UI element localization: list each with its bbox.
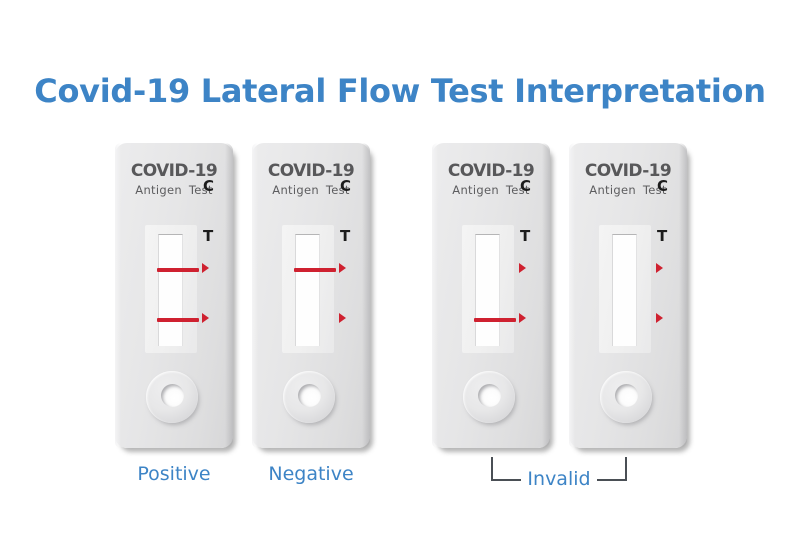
test-line-band [157, 318, 199, 322]
result-window [145, 225, 197, 353]
result-label-invalid: Invalid [491, 468, 627, 490]
page-title: Covid-19 Lateral Flow Test Interpretatio… [0, 72, 800, 110]
sample-well-hole [298, 384, 321, 407]
result-window [462, 225, 514, 353]
test-line-band [474, 318, 516, 322]
control-label: C [657, 179, 668, 194]
control-label: C [520, 179, 531, 194]
control-label: C [203, 179, 214, 194]
test-cassette-invalid-2[interactable]: COVID-19 Antigen Test C T [569, 143, 687, 448]
test-marker-arrow-icon [519, 313, 526, 323]
cassette-subtitle-text: Antigen Test [252, 183, 370, 197]
test-strip [612, 234, 637, 346]
sample-well-hole [161, 384, 184, 407]
cassette-brand-text: COVID-19 [252, 161, 370, 181]
sample-well[interactable] [463, 371, 515, 423]
illustration-canvas: Covid-19 Lateral Flow Test Interpretatio… [0, 0, 800, 550]
test-label: T [203, 229, 213, 244]
test-label: T [657, 229, 667, 244]
result-label-positive: Positive [115, 463, 233, 485]
control-label: C [340, 179, 351, 194]
test-marker-arrow-icon [202, 313, 209, 323]
sample-well[interactable] [283, 371, 335, 423]
test-strip [295, 234, 320, 346]
test-strip [475, 234, 500, 346]
control-marker-arrow-icon [519, 263, 526, 273]
result-window [282, 225, 334, 353]
sample-well[interactable] [600, 371, 652, 423]
cassette-brand-text: COVID-19 [115, 161, 233, 181]
sample-well[interactable] [146, 371, 198, 423]
test-cassette-positive[interactable]: COVID-19 Antigen Test C T [115, 143, 233, 448]
control-marker-arrow-icon [656, 263, 663, 273]
test-cassette-negative[interactable]: COVID-19 Antigen Test C T [252, 143, 370, 448]
cassette-subtitle-text: Antigen Test [432, 183, 550, 197]
cassette-subtitle-text: Antigen Test [115, 183, 233, 197]
sample-well-hole [615, 384, 638, 407]
test-cassette-invalid-1[interactable]: COVID-19 Antigen Test C T [432, 143, 550, 448]
test-label: T [340, 229, 350, 244]
cassette-brand-text: COVID-19 [569, 161, 687, 181]
test-label: T [520, 229, 530, 244]
control-line-band [294, 268, 336, 272]
test-strip [158, 234, 183, 346]
test-marker-arrow-icon [339, 313, 346, 323]
sample-well-hole [478, 384, 501, 407]
control-line-band [157, 268, 199, 272]
cassette-brand-text: COVID-19 [432, 161, 550, 181]
result-label-negative: Negative [252, 463, 370, 485]
control-marker-arrow-icon [339, 263, 346, 273]
control-marker-arrow-icon [202, 263, 209, 273]
result-window [599, 225, 651, 353]
test-marker-arrow-icon [656, 313, 663, 323]
cassette-subtitle-text: Antigen Test [569, 183, 687, 197]
